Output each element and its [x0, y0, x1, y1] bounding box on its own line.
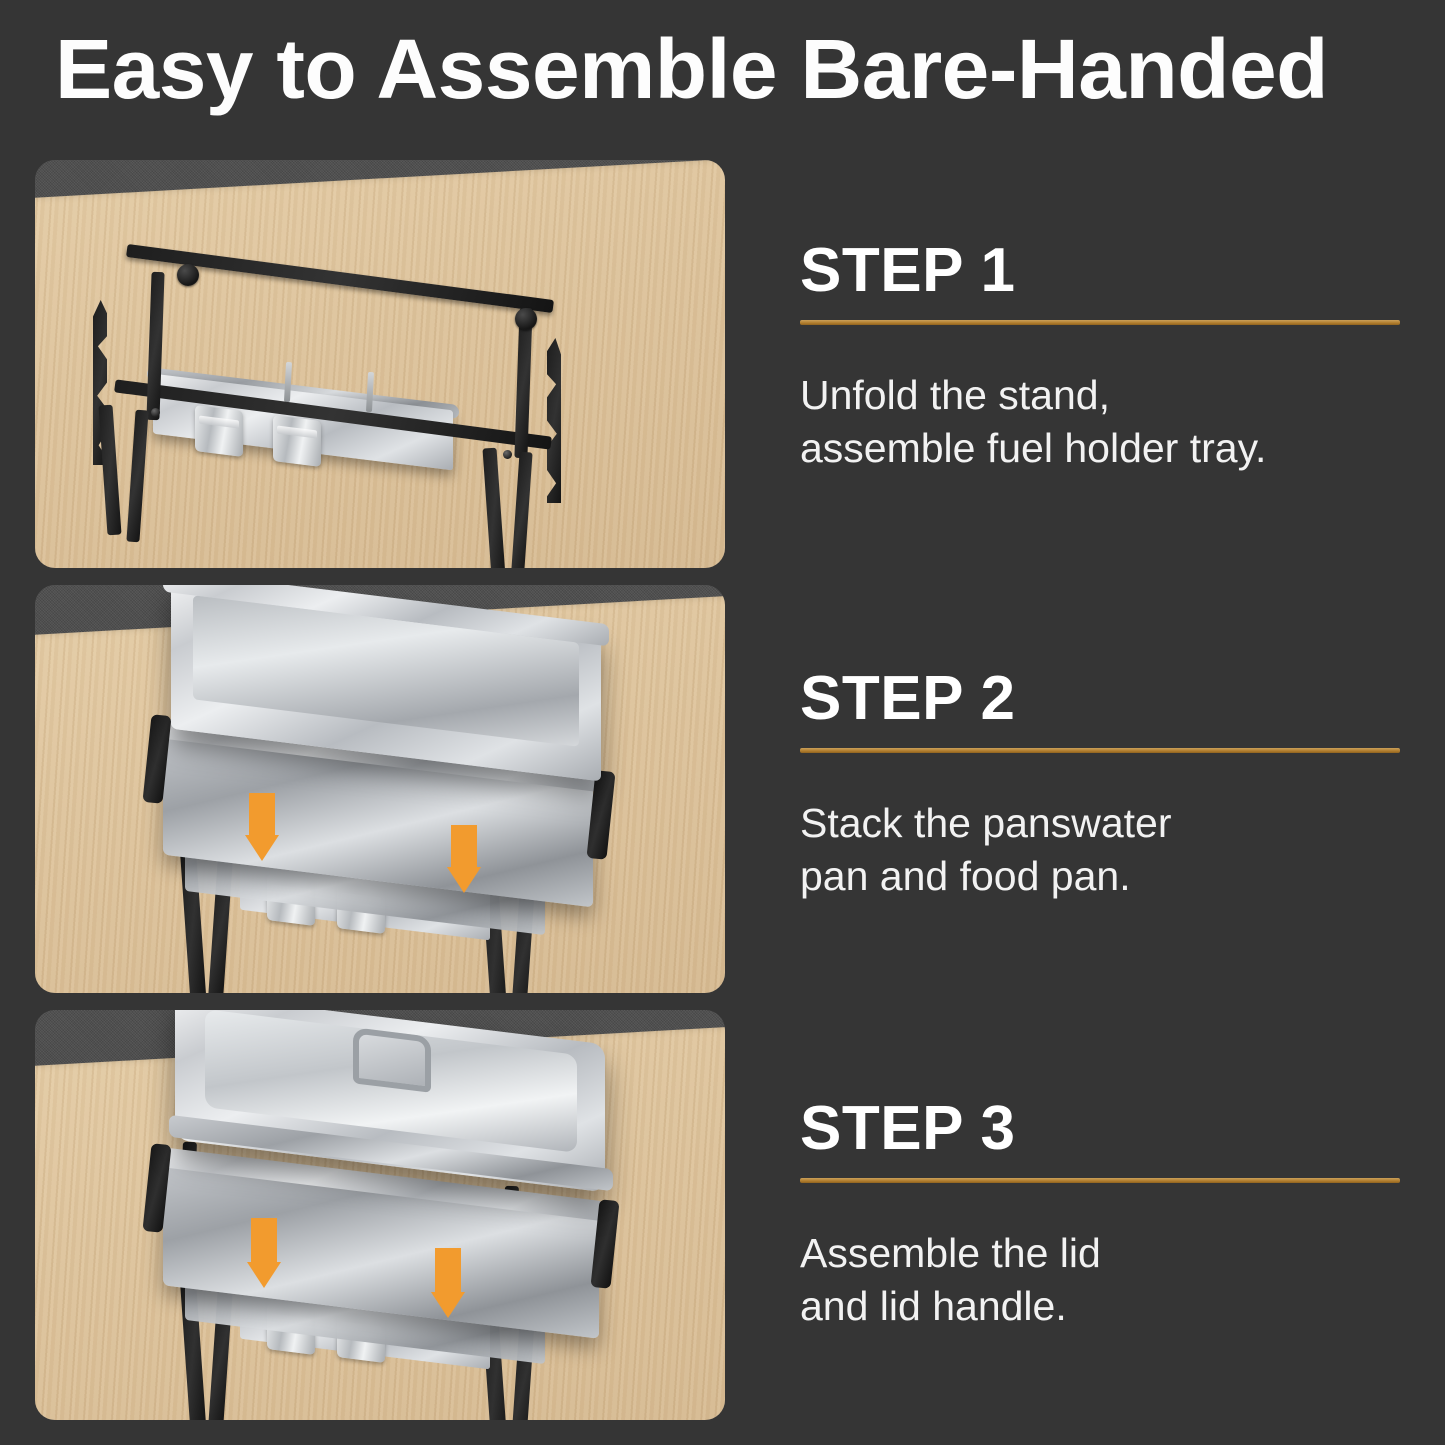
- step-1-image: [35, 160, 725, 568]
- step-1-block: STEP 1 Unfold the stand, assemble fuel h…: [800, 240, 1400, 476]
- down-arrow-icon: [447, 825, 481, 893]
- step-3-image: [35, 1010, 725, 1420]
- stand-rivet: [151, 408, 160, 417]
- infographic-page: Easy to Assemble Bare-Handed: [0, 0, 1445, 1445]
- step-2-heading: STEP 2: [800, 668, 1400, 730]
- scene-stack-pans: [35, 585, 725, 993]
- scene-stand-unfolded: [35, 160, 725, 568]
- step-3-heading: STEP 3: [800, 1098, 1400, 1160]
- fuel-can: [273, 415, 321, 467]
- step-2-image: [35, 585, 725, 993]
- down-arrow-icon: [431, 1248, 465, 1318]
- step-1-description: Unfold the stand, assemble fuel holder t…: [800, 369, 1400, 476]
- down-arrow-icon: [247, 1218, 281, 1288]
- scene-assemble-lid: [35, 1010, 725, 1420]
- fuel-can: [195, 405, 243, 457]
- step-3-block: STEP 3 Assemble the lid and lid handle.: [800, 1098, 1400, 1334]
- down-arrow-icon: [245, 793, 279, 861]
- stand-hinge: [177, 264, 199, 286]
- step-2-divider: [800, 748, 1400, 753]
- step-3-divider: [800, 1178, 1400, 1183]
- lid-handle: [353, 1027, 431, 1093]
- step-1-heading: STEP 1: [800, 240, 1400, 302]
- stand-rivet: [503, 450, 512, 459]
- step-1-divider: [800, 320, 1400, 325]
- step-2-block: STEP 2 Stack the panswater pan and food …: [800, 668, 1400, 904]
- stand-hinge: [515, 308, 537, 330]
- step-2-description: Stack the panswater pan and food pan.: [800, 797, 1400, 904]
- step-3-description: Assemble the lid and lid handle.: [800, 1227, 1400, 1334]
- page-title: Easy to Assemble Bare-Handed: [55, 25, 1427, 113]
